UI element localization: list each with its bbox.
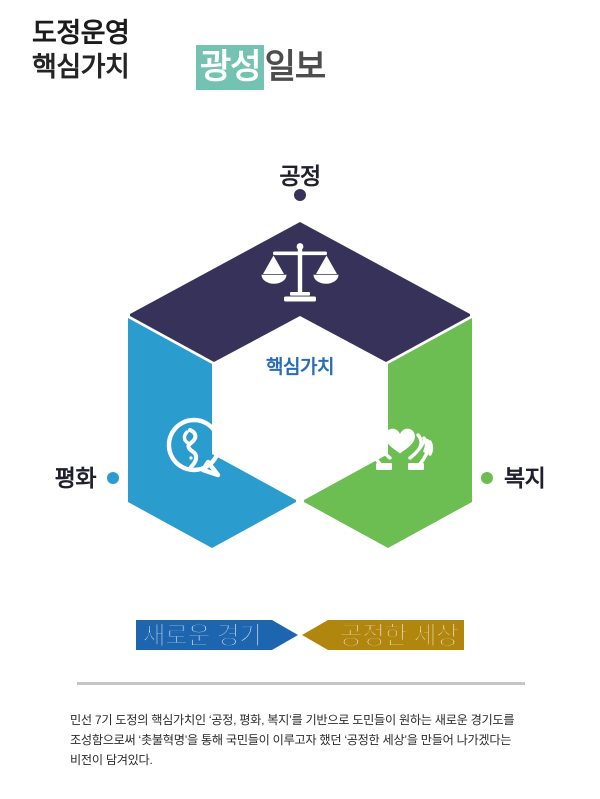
slogan-chip-left: 새로운 경기 <box>136 620 298 650</box>
logo-mark-text: 광성 <box>196 45 264 90</box>
cube-face-fairness[interactable] <box>130 222 470 362</box>
vertex-label-fairness: 공정 <box>279 163 320 189</box>
vertex-dot-peace <box>107 472 119 484</box>
header: 도정운영 핵심가치 광성 일보 <box>0 0 600 112</box>
slogan-left-text: 새로운 경기 <box>143 622 262 650</box>
vertex-label-welfare: 복지 <box>504 465 545 491</box>
page-title-line-2: 핵심가치 <box>32 50 212 84</box>
slogan-right-text: 공정한 세상 <box>340 622 459 650</box>
publisher-logo: 광성 일보 <box>196 44 325 90</box>
vertex-label-peace: 평화 <box>55 465 97 491</box>
slogan-banner: 새로운 경기 공정한 세상 <box>0 608 600 662</box>
vertex-dot-fairness <box>294 189 306 201</box>
section-divider <box>77 682 525 685</box>
page-title: 도정운영 핵심가치 <box>32 16 212 84</box>
core-value-center-label: 핵심가치 <box>266 356 334 378</box>
logo-suffix-text: 일보 <box>264 45 326 90</box>
page-title-line-1: 도정운영 <box>32 16 212 50</box>
infographic-page: 도정운영 핵심가치 광성 일보 <box>0 0 600 799</box>
core-values-cube-diagram: 핵심가치 공정 평화 복지 <box>0 140 600 580</box>
slogan-chip-right: 공정한 세상 <box>302 620 464 650</box>
caption-paragraph: 민선 7기 도정의 핵심가치인 ‘공정, 평화, 복지’를 기반으로 도민들이 … <box>70 710 532 770</box>
vertex-dot-welfare <box>481 472 493 484</box>
